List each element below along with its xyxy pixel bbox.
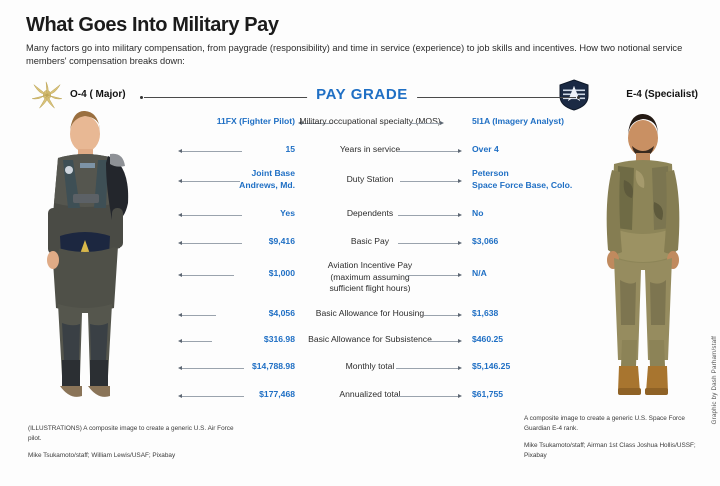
- connector-right: [428, 341, 458, 342]
- connector-left: [182, 368, 244, 369]
- arrow-right-icon: [440, 121, 444, 125]
- page-title: What Goes Into Military Pay: [26, 14, 279, 37]
- row-right-value: $3,066: [472, 236, 498, 248]
- right-caption-credit: Mike Tsukamoto/staff; Airman 1st Class J…: [524, 441, 704, 461]
- arrow-right-icon: [458, 339, 462, 343]
- row-label: Monthly total: [268, 361, 472, 373]
- connector-right: [396, 396, 458, 397]
- left-rank-label: O-4 ( Major): [70, 89, 126, 100]
- guardian-illustration: [588, 110, 698, 410]
- connector-right: [406, 275, 458, 276]
- row-label: Years in service: [268, 144, 472, 156]
- connector-left: [182, 275, 234, 276]
- arrow-right-icon: [458, 179, 462, 183]
- row-right-value: $460.25: [472, 334, 503, 346]
- paygrade-title: PAY GRADE: [307, 86, 417, 103]
- connector-right: [400, 181, 458, 182]
- row-right-value: N/A: [472, 268, 487, 280]
- arrow-right-icon: [458, 313, 462, 317]
- connector-left: [182, 243, 242, 244]
- connector-right: [398, 151, 458, 152]
- comparison-rows: 11FX (Fighter Pilot) Military occupation…: [150, 114, 590, 410]
- arrow-right-icon: [458, 241, 462, 245]
- row-label: Basic Allowance for Housing: [268, 308, 472, 320]
- connector-left: [182, 315, 216, 316]
- row-right-value: $1,638: [472, 308, 498, 320]
- gold-oak-leaf-icon: [28, 80, 66, 110]
- row-label: Duty Station: [268, 174, 472, 186]
- connector-right: [398, 215, 458, 216]
- arrow-right-icon: [458, 213, 462, 217]
- left-line-dot: [140, 96, 143, 99]
- right-caption-block: A composite image to create a generic U.…: [524, 414, 704, 468]
- connector-right: [396, 368, 458, 369]
- row-label: Basic Allowance for Subsistence: [268, 334, 472, 346]
- connector-left: [182, 215, 242, 216]
- graphic-credit: Graphic by Dash Parham/staff: [711, 336, 718, 424]
- arrow-right-icon: [458, 394, 462, 398]
- paygrade-bar: O-4 ( Major) PAY GRADE E-4 (Specialist): [26, 86, 698, 108]
- table-row: $4,056 Basic Allowance for Housing $1,63…: [150, 302, 590, 328]
- row-right-value: Peterson Space Force Base, Colo.: [472, 168, 572, 191]
- connector-left: [182, 341, 212, 342]
- row-right-value: Over 4: [472, 144, 499, 156]
- row-right-value: 5I1A (Imagery Analyst): [472, 116, 564, 128]
- connector-left: [182, 151, 242, 152]
- connector-left: [182, 181, 240, 182]
- left-caption-note: (ILLUSTRATIONS) A composite image to cre…: [28, 424, 243, 444]
- paygrade-line-right: [416, 97, 576, 98]
- right-caption-note: A composite image to create a generic U.…: [524, 414, 704, 434]
- left-caption-credit: Mike Tsukamoto/staff; William Lewis/USAF…: [28, 451, 243, 461]
- table-row: Joint Base Andrews, Md. Duty Station Pet…: [150, 164, 590, 200]
- table-row: $9,416 Basic Pay $3,066: [150, 228, 590, 256]
- page-deck: Many factors go into military compensati…: [26, 42, 696, 69]
- row-right-value: $5,146.25: [472, 361, 510, 373]
- right-rank-label: E-4 (Specialist): [626, 89, 698, 100]
- row-label: Basic Pay: [268, 236, 472, 248]
- table-row: Yes Dependents No: [150, 200, 590, 228]
- arrow-right-icon: [458, 366, 462, 370]
- pilot-illustration: [28, 108, 143, 408]
- row-label: Annualized total: [268, 389, 472, 401]
- arrow-right-icon: [458, 149, 462, 153]
- arrow-right-icon: [458, 273, 462, 277]
- table-row: $1,000 Aviation Incentive Pay (maximum a…: [150, 256, 590, 302]
- connector-left: [182, 396, 244, 397]
- table-row: 15 Years in service Over 4: [150, 136, 590, 164]
- row-right-value: $61,755: [472, 389, 503, 401]
- table-row: $316.98 Basic Allowance for Subsistence …: [150, 328, 590, 354]
- connector-right: [398, 243, 458, 244]
- table-row: $177,468 Annualized total $61,755: [150, 382, 590, 410]
- row-right-value: No: [472, 208, 483, 220]
- row-label: Aviation Incentive Pay (maximum assuming…: [268, 260, 472, 295]
- left-caption-block: (ILLUSTRATIONS) A composite image to cre…: [28, 424, 243, 468]
- connector-right: [410, 123, 440, 124]
- space-force-delta-shield-icon: [558, 79, 590, 111]
- connector-right: [424, 315, 458, 316]
- infographic-canvas: What Goes Into Military Pay Many factors…: [0, 0, 720, 486]
- right-line-dot: [577, 96, 580, 99]
- row-label: Dependents: [268, 208, 472, 220]
- table-row: 11FX (Fighter Pilot) Military occupation…: [150, 114, 590, 136]
- table-row: $14,788.98 Monthly total $5,146.25: [150, 354, 590, 382]
